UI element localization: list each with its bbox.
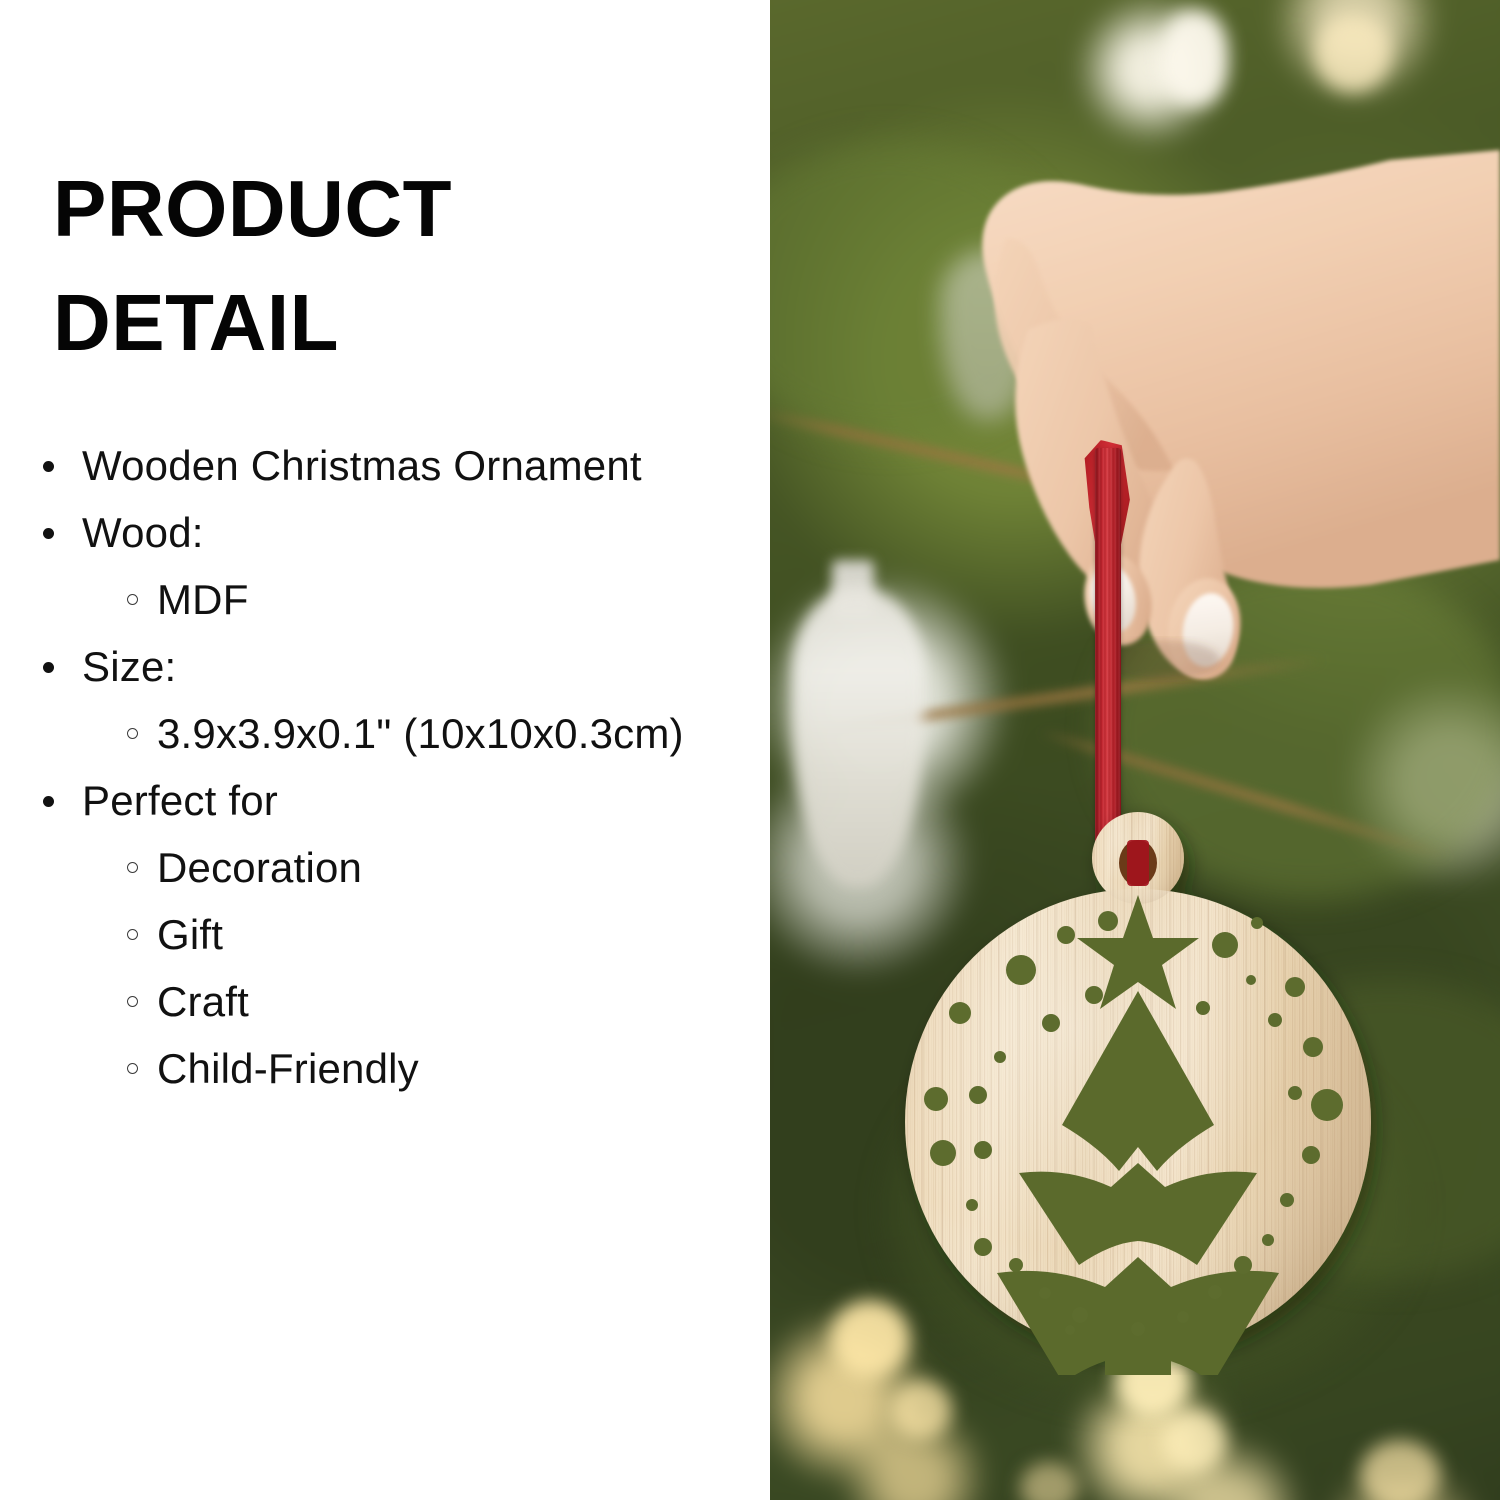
sub-list-item-label: Craft (157, 978, 249, 1025)
sub-list-item: Decoration (82, 834, 770, 901)
bullet-circle-icon (127, 862, 138, 873)
bullet-circle-icon (127, 728, 138, 739)
list-item: Perfect for Decoration Gift Craft (0, 767, 770, 1102)
list-item-label: Perfect for (82, 777, 278, 824)
bullet-circle-icon (127, 1063, 138, 1074)
sub-list-item-label: Decoration (157, 844, 362, 891)
bullet-disc-icon (43, 528, 54, 539)
sub-list-item-label: Child-Friendly (157, 1045, 419, 1092)
sub-list-item: Craft (82, 968, 770, 1035)
bullet-circle-icon (127, 996, 138, 1007)
sub-list-item: 3.9x3.9x0.1" (10x10x0.3cm) (82, 700, 770, 767)
bullet-disc-icon (43, 796, 54, 807)
product-detail-text-panel: PRODUCT DETAIL Wooden Christmas Ornament… (0, 0, 770, 1500)
sub-list-item: Gift (82, 901, 770, 968)
sub-list-item-label: MDF (157, 576, 249, 623)
sub-list: Decoration Gift Craft Child-Friendly (82, 834, 770, 1102)
bullet-circle-icon (127, 929, 138, 940)
product-photo (770, 0, 1500, 1500)
bullet-circle-icon (127, 594, 138, 605)
sub-list: 3.9x3.9x0.1" (10x10x0.3cm) (82, 700, 770, 767)
list-item-label: Wooden Christmas Ornament (82, 442, 642, 489)
sub-list-item: Child-Friendly (82, 1035, 770, 1102)
product-spec-list: Wooden Christmas Ornament Wood: MDF Size… (0, 432, 770, 1102)
list-item: Wood: MDF (0, 499, 770, 633)
bullet-disc-icon (43, 662, 54, 673)
bullet-disc-icon (43, 461, 54, 472)
list-item: Size: 3.9x3.9x0.1" (10x10x0.3cm) (0, 633, 770, 767)
sub-list-item-label: 3.9x3.9x0.1" (10x10x0.3cm) (157, 710, 684, 757)
product-detail-page: PRODUCT DETAIL Wooden Christmas Ornament… (0, 0, 1500, 1500)
sub-list-item: MDF (82, 566, 770, 633)
tree-trunk-cutout (1105, 1339, 1171, 1375)
list-item-label: Wood: (82, 509, 204, 556)
wooden-ornament (865, 795, 1405, 1375)
list-item: Wooden Christmas Ornament (0, 432, 770, 499)
list-item-label: Size: (82, 643, 176, 690)
ribbon-through-hole (1127, 840, 1149, 886)
sub-list-item-label: Gift (157, 911, 223, 958)
sub-list: MDF (82, 566, 770, 633)
page-title: PRODUCT DETAIL (53, 152, 693, 379)
